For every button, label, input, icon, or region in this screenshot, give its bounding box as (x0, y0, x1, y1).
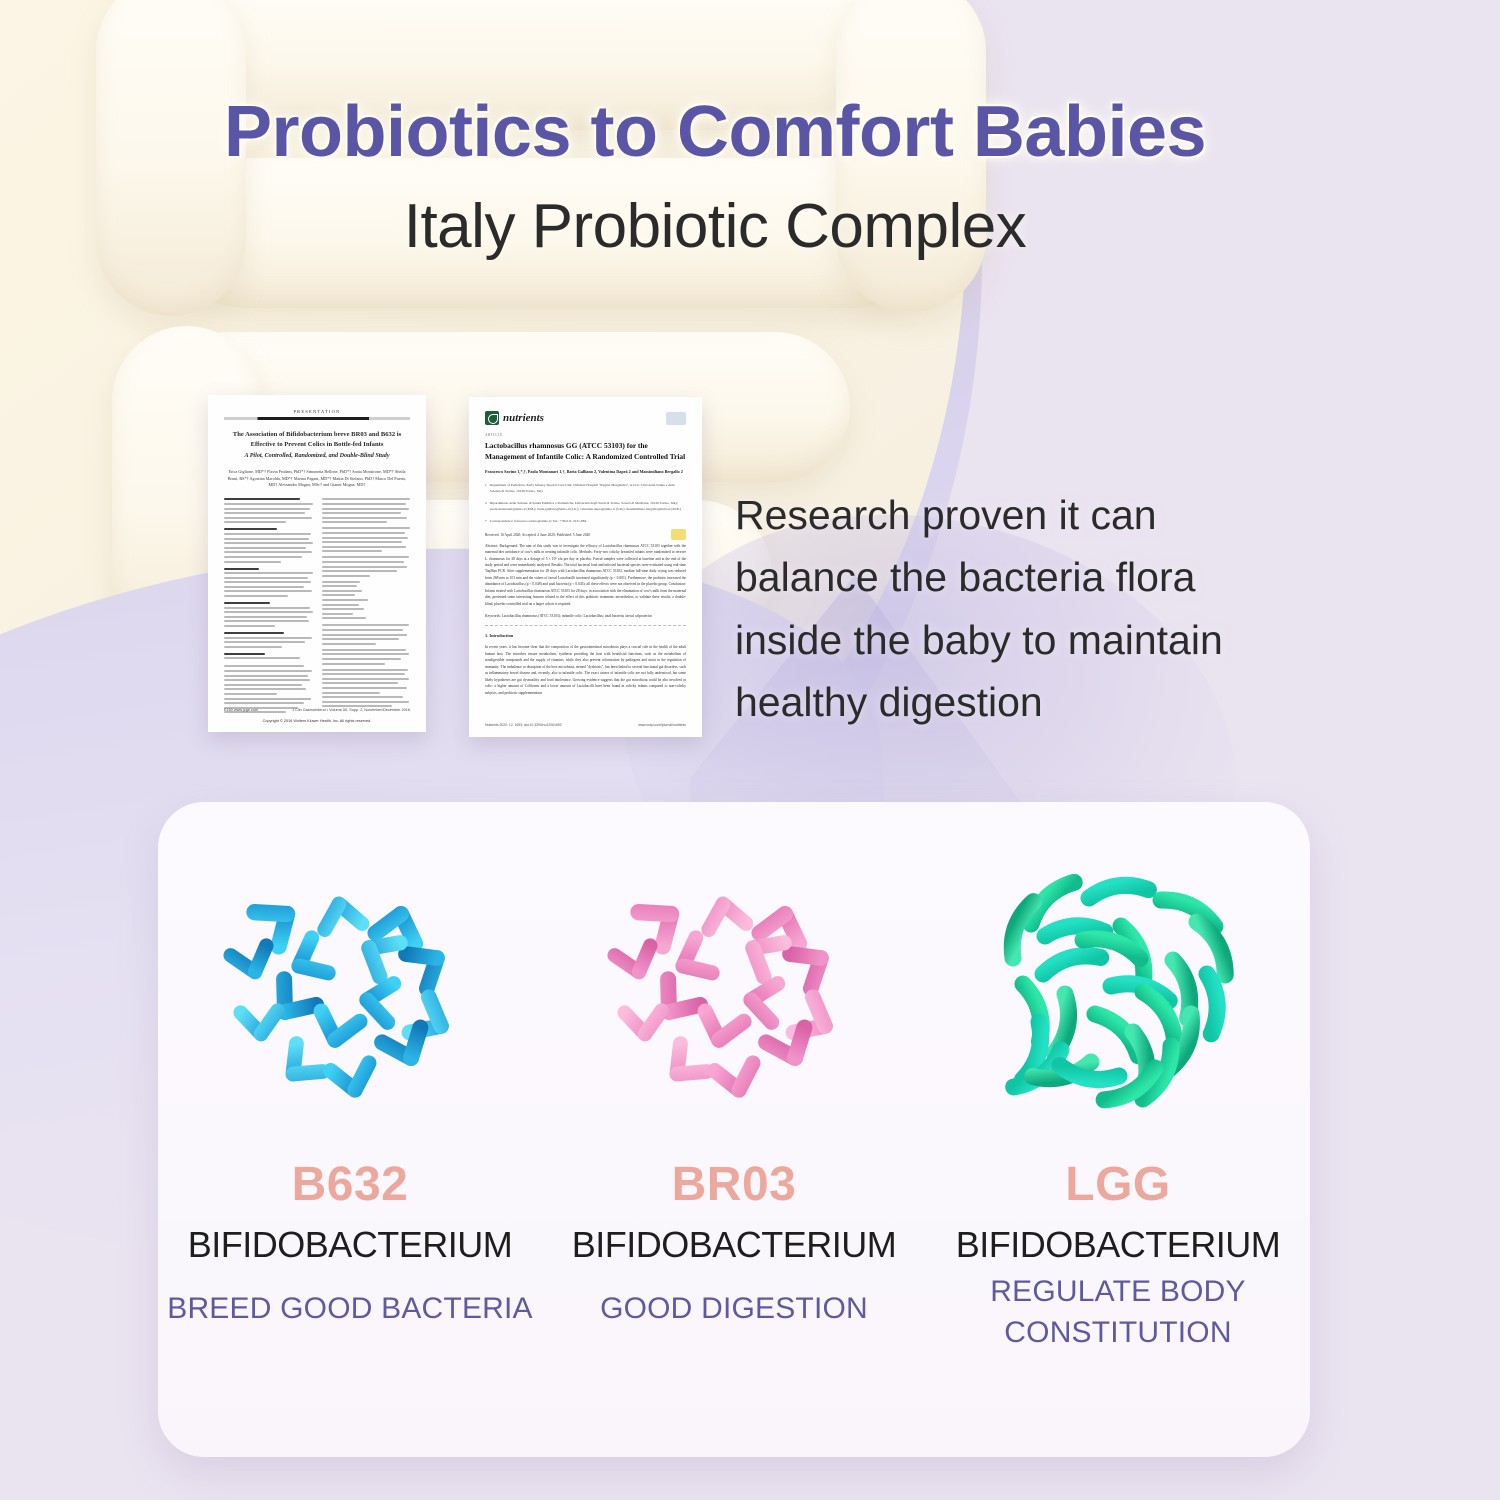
paper2-dates: Received: 16 April 2020; Accepted: 2 Jun… (485, 533, 686, 537)
headline-block: Probiotics to Comfort Babies Italy Probi… (0, 96, 1430, 259)
paper2-divider (485, 625, 686, 626)
paper2-footer-right: www.mdpi.com/journal/nutrients (638, 723, 686, 727)
mdpi-logo-icon (666, 412, 686, 425)
bifidobacterium-pink-cluster-icon (599, 862, 869, 1132)
paper1-footer-right: J Clin Gastroenterol • Volume 50, Supp. … (292, 708, 410, 712)
paper-thumbnail-2: nutrients Article Lactobacillus rhamnosu… (469, 397, 702, 737)
strain-genus-br03: BIFIDOBACTERIUM (542, 1224, 926, 1266)
paper2-article-type: Article (485, 433, 686, 437)
paper1-authors: Erica Giglione, MD*† Flavia Prodam, PhD*… (224, 469, 410, 490)
paper1-subtitle: A Pilot, Controlled, Randomized, and Dou… (224, 452, 410, 461)
paper1-col-left (224, 498, 313, 716)
paper2-masthead: nutrients (485, 411, 686, 425)
bifidobacterium-blue-cluster-icon (215, 862, 485, 1132)
paper2-abstract: Abstract: Background: The aim of this st… (485, 543, 686, 608)
paper1-kicker: Presentation (224, 409, 410, 414)
paper2-affiliation-1: 1Department of Pediatrics, Early Infancy… (485, 482, 686, 494)
journal-name: nutrients (503, 412, 544, 424)
paper1-footer: E160 www.jcge.com J Clin Gastroenterol •… (224, 708, 410, 712)
paper2-footer: Nutrients 2020, 12, 1693; doi:10.3390/nu… (485, 723, 686, 727)
strain-item-lgg: LGG BIFIDOBACTERIUM REGULATE BODY CONSTI… (926, 802, 1310, 1457)
strain-benefit-b632: BREED GOOD BACTERIA (158, 1289, 542, 1330)
paper1-copyright: Copyright © 2016 Wolters Kluwer Health, … (208, 719, 426, 723)
nutrients-logo: nutrients (485, 411, 544, 425)
paper2-section-heading: 1. Introduction (485, 633, 686, 638)
research-statement: Research proven it can balance the bacte… (735, 484, 1295, 733)
paper2-keywords: Keywords: Lactobacillus rhamnosus (ATCC … (485, 614, 686, 618)
strain-benefit-lgg: REGULATE BODY CONSTITUTION (926, 1272, 1310, 1353)
paper1-col-right (322, 498, 411, 716)
strain-code-br03: BR03 (542, 1157, 926, 1212)
paper1-title: The Association of Bifidobacterium breve… (224, 430, 410, 449)
paper1-body-columns (224, 498, 410, 716)
page-title: Probiotics to Comfort Babies (0, 96, 1430, 168)
paper2-affiliation-3: *Correspondence: francesco.savino@unito.… (485, 518, 686, 524)
page-subtitle: Italy Probiotic Complex (0, 194, 1430, 259)
strain-card: B632 BIFIDOBACTERIUM BREED GOOD BACTERIA (158, 802, 1310, 1457)
strain-genus-b632: BIFIDOBACTERIUM (158, 1224, 542, 1266)
check-for-updates-badge-icon (671, 529, 686, 540)
leaf-icon (485, 411, 499, 425)
infographic-page: Probiotics to Comfort Babies Italy Probi… (0, 0, 1500, 1500)
strain-item-br03: BR03 BIFIDOBACTERIUM GOOD DIGESTION (542, 802, 926, 1457)
strain-code-b632: B632 (158, 1157, 542, 1212)
paper2-authors: Francesco Savino 1,*,†, Paola Montanari … (485, 469, 686, 476)
strain-item-b632: B632 BIFIDOBACTERIUM BREED GOOD BACTERIA (158, 802, 542, 1457)
paper-thumbnail-1: Presentation The Association of Bifidoba… (208, 395, 426, 732)
paper2-affiliation-2: 2Dipartimento delle Scienze di Sanità Pu… (485, 500, 686, 512)
paper2-introduction: In recent years, it has become clear tha… (485, 644, 686, 696)
lactobacillus-green-cluster-icon (983, 862, 1253, 1132)
paper2-title: Lactobacillus rhamnosus GG (ATCC 53103) … (485, 440, 686, 462)
paper1-footer-left: E160 www.jcge.com (224, 708, 258, 712)
strain-genus-lgg: BIFIDOBACTERIUM (926, 1224, 1310, 1266)
strain-code-lgg: LGG (926, 1157, 1310, 1212)
paper1-rule (224, 417, 410, 420)
paper2-footer-left: Nutrients 2020, 12, 1693; doi:10.3390/nu… (485, 723, 562, 727)
strain-list: B632 BIFIDOBACTERIUM BREED GOOD BACTERIA (158, 802, 1310, 1457)
strain-benefit-br03: GOOD DIGESTION (542, 1289, 926, 1330)
